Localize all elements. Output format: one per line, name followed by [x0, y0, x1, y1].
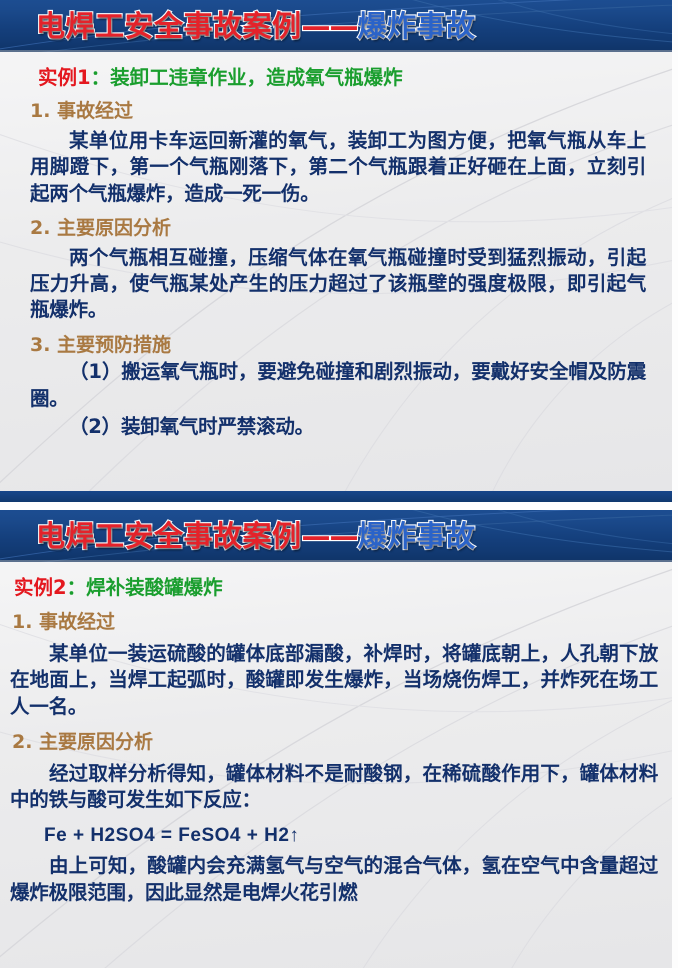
slide-1-section-3-heading: 3. 主要预防措施 [30, 333, 646, 358]
slide-2: 电焊工安全事故案例——爆炸事故 实例2：焊补装酸罐爆炸 1. 事故经过 某单位一… [0, 510, 672, 968]
slide-2-title-sub: 爆炸事故 [358, 519, 476, 553]
slide-2-example-text: ：焊补装酸罐爆炸 [67, 576, 223, 599]
slide-1-title-sub: 爆炸事故 [358, 9, 476, 43]
slide-1-title-dash: —— [302, 9, 358, 43]
slide-2-title-dash: —— [302, 519, 358, 553]
slide-2-section-1-heading: 1. 事故经过 [12, 610, 658, 635]
slide-1-example-label: 实例1 [38, 66, 91, 89]
slide-2-example-label: 实例2 [14, 576, 67, 599]
presentation-page: 电焊工安全事故案例——爆炸事故 实例1：装卸工违章作业，造成氧气瓶爆炸 1. 事… [0, 0, 678, 968]
slide-1-section-3-item-1: （1）搬运氧气瓶时，要避免碰撞和剧烈振动，要戴好安全帽及防震圈。 [30, 359, 646, 412]
slide-1-section-3-item-2: （2）装卸氧气时严禁滚动。 [30, 414, 646, 440]
slide-2-content: 实例2：焊补装酸罐爆炸 1. 事故经过 某单位一装运硫酸的罐体底部漏酸，补焊时，… [0, 562, 672, 906]
slide-separator [0, 502, 678, 510]
slide-2-title-main: 电焊工安全事故案例 [36, 519, 302, 553]
slide-1: 电焊工安全事故案例——爆炸事故 实例1：装卸工违章作业，造成氧气瓶爆炸 1. 事… [0, 0, 672, 502]
slide-1-title-banner: 电焊工安全事故案例——爆炸事故 [0, 0, 672, 52]
slide-1-content: 实例1：装卸工违章作业，造成氧气瓶爆炸 1. 事故经过 某单位用卡车运回新灌的氧… [0, 52, 672, 440]
slide-1-example-text: ：装卸工违章作业，造成氧气瓶爆炸 [91, 66, 403, 89]
slide-2-section-2-paragraph: 经过取样分析得知，罐体材料不是耐酸钢，在稀硫酸作用下，罐体材料中的铁与酸可发生如… [10, 761, 658, 814]
chemical-equation: Fe + H2SO4 = FeSO4 + H2↑ [44, 825, 658, 847]
slide-1-example-heading: 实例1：装卸工违章作业，造成氧气瓶爆炸 [38, 66, 646, 90]
slide-2-example-heading: 实例2：焊补装酸罐爆炸 [14, 576, 658, 600]
slide-1-title: 电焊工安全事故案例——爆炸事故 [36, 12, 476, 41]
slide-2-title-banner: 电焊工安全事故案例——爆炸事故 [0, 510, 672, 562]
slide-1-title-main: 电焊工安全事故案例 [36, 9, 302, 43]
slide-1-section-1-heading: 1. 事故经过 [30, 99, 646, 124]
slide-1-section-2-paragraph: 两个气瓶相互碰撞，压缩气体在氧气瓶碰撞时受到猛烈振动，引起压力升高，使气瓶某处产… [30, 245, 646, 324]
slide-2-section-1-paragraph: 某单位一装运硫酸的罐体底部漏酸，补焊时，将罐底朝上，人孔朝下放在地面上，当焊工起… [10, 641, 658, 720]
slide-2-section-2-heading: 2. 主要原因分析 [12, 730, 658, 755]
slide-2-title: 电焊工安全事故案例——爆炸事故 [36, 522, 476, 551]
slide-1-section-1-paragraph: 某单位用卡车运回新灌的氧气，装卸工为图方便，把氧气瓶从车上用脚蹬下，第一个气瓶刚… [30, 128, 646, 207]
slide-2-section-2-paragraph-after: 由上可知，酸罐内会充满氢气与空气的混合气体，氢在空气中含量超过爆炸极限范围，因此… [10, 853, 658, 906]
slide-1-section-2-heading: 2. 主要原因分析 [30, 216, 646, 241]
slide-1-footer-strip [0, 491, 672, 502]
